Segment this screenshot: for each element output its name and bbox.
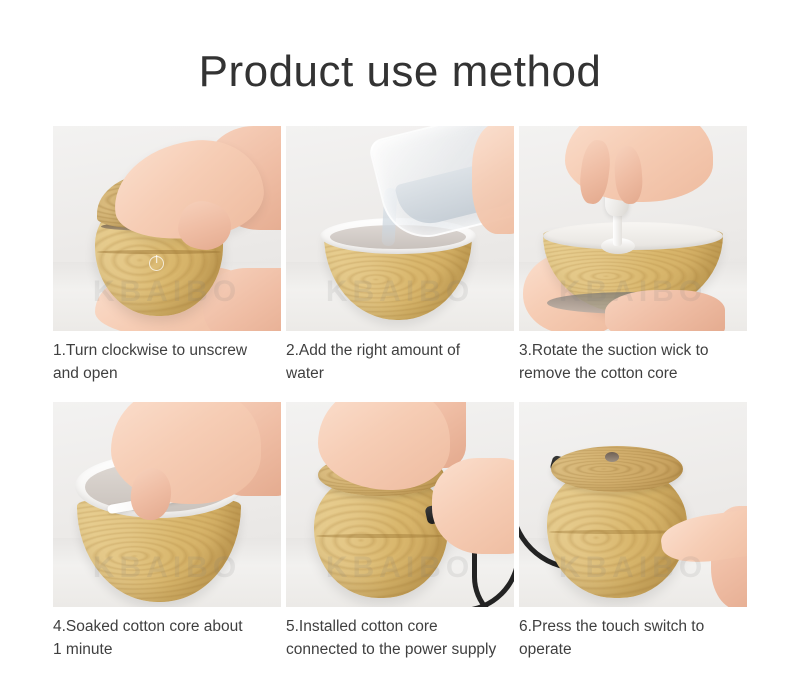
- holding-fingers: [472, 126, 514, 234]
- step-card-6: KBAIBO 6.Press the touch switch to opera…: [519, 402, 747, 678]
- step-caption-5: 5.Installed cotton core connected to the…: [286, 607, 514, 678]
- wick-stem: [613, 212, 622, 246]
- step-photo-4: KBAIBO: [53, 402, 281, 607]
- step-caption-1: 1.Turn clockwise to unscrew and open: [53, 331, 281, 402]
- step-photo-2: KBAIBO: [286, 126, 514, 331]
- step-card-2: KBAIBO 2.Add the right amount of water: [286, 126, 514, 402]
- step-card-3: KBAIBO 3.Rotate the suction wick to remo…: [519, 126, 747, 402]
- step-caption-6: 6.Press the touch switch to operate: [519, 607, 747, 678]
- step-photo-5: KBAIBO: [286, 402, 514, 607]
- power-cable-loop: [472, 552, 514, 607]
- step-caption-3: 3.Rotate the suction wick to remove the …: [519, 331, 747, 402]
- step-photo-6: KBAIBO: [519, 402, 747, 607]
- step-card-5: KBAIBO 5.Installed cotton core connected…: [286, 402, 514, 678]
- step-caption-2: 2.Add the right amount of water: [286, 331, 514, 402]
- step-photo-3: KBAIBO: [519, 126, 747, 331]
- step-card-4: KBAIBO 4.Soaked cotton core about 1 minu…: [53, 402, 281, 678]
- step-card-1: KBAIBO 1.Turn clockwise to unscrew and o…: [53, 126, 281, 402]
- page-title: Product use method: [0, 0, 800, 96]
- step-caption-4: 4.Soaked cotton core about 1 minute: [53, 607, 281, 678]
- supporting-hand-right: [605, 290, 725, 331]
- step-photo-1: KBAIBO: [53, 126, 281, 331]
- steps-grid: KBAIBO 1.Turn clockwise to unscrew and o…: [53, 96, 747, 678]
